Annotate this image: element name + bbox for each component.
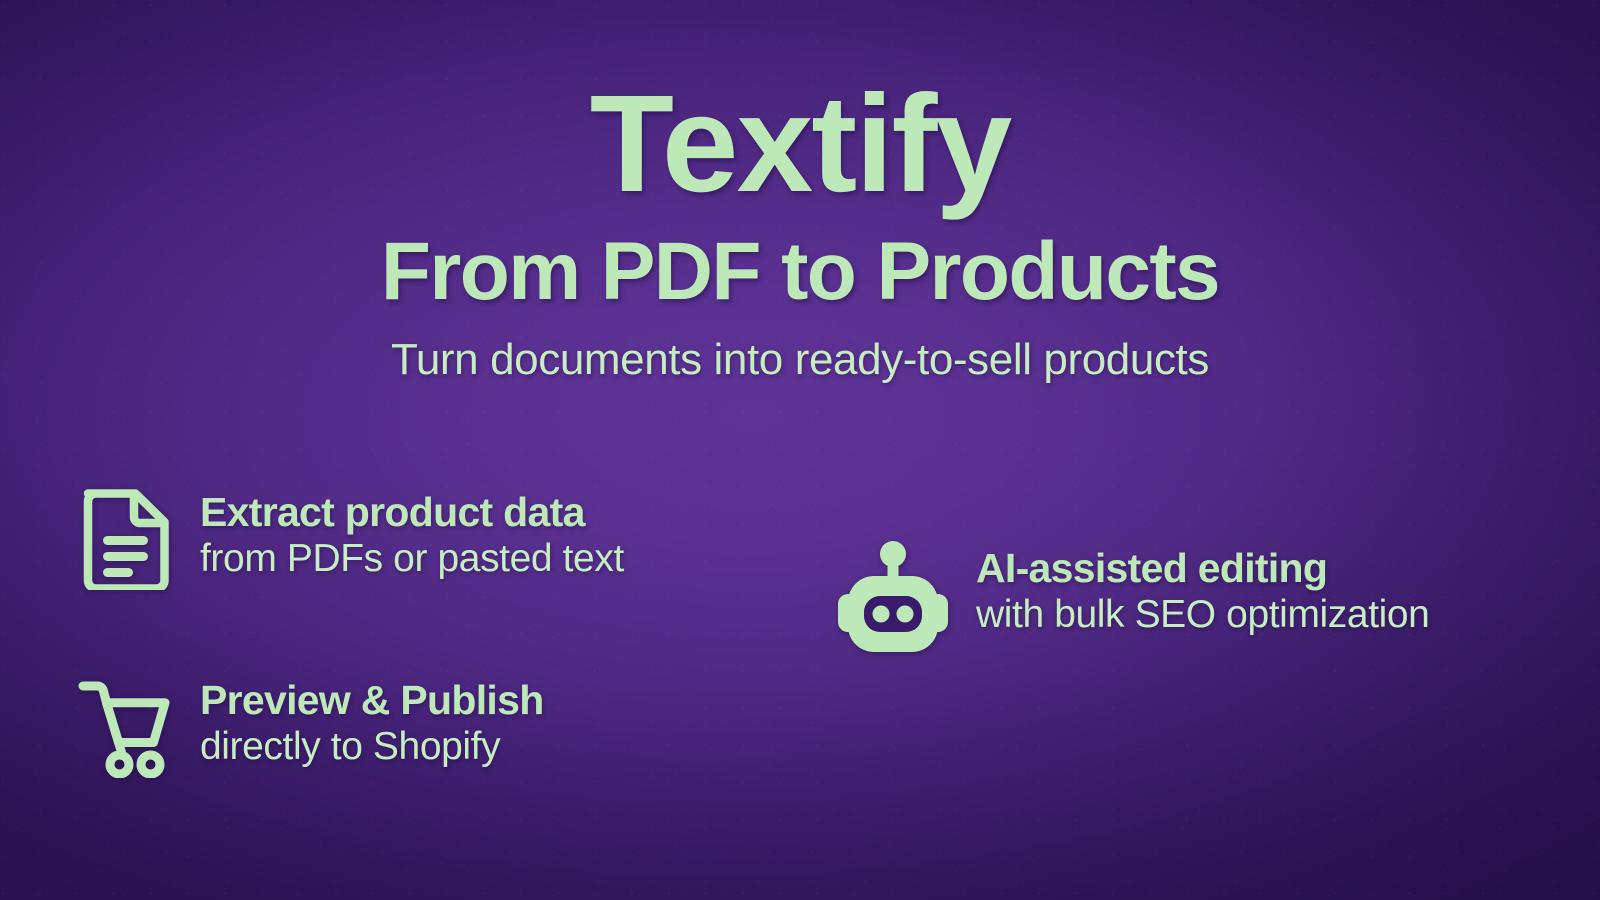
feature-text-group: AI-assisted editing with bulk SEO optimi… bbox=[976, 538, 1429, 639]
shopping-cart-icon bbox=[76, 672, 174, 783]
feature-subtitle: directly to Shopify bbox=[200, 724, 544, 771]
feature-item-ai-assisted-editing: AI-assisted editing with bulk SEO optimi… bbox=[836, 538, 1429, 661]
feature-title: Preview & Publish bbox=[200, 678, 544, 724]
robot-head-icon bbox=[836, 538, 950, 661]
feature-subtitle: with bulk SEO optimization bbox=[976, 592, 1429, 639]
feature-title: Extract product data bbox=[200, 490, 624, 536]
feature-subtitle: from PDFs or pasted text bbox=[200, 536, 624, 583]
feature-item-preview-and-publish: Preview & Publish directly to Shopify bbox=[76, 672, 544, 783]
subtagline: Turn documents into ready-to-sell produc… bbox=[0, 314, 1600, 384]
headline-block: Textify From PDF to Products Turn docume… bbox=[0, 0, 1600, 384]
document-lines-icon bbox=[76, 484, 174, 595]
tagline: From PDF to Products bbox=[0, 215, 1600, 314]
feature-item-extract-product-data: Extract product data from PDFs or pasted… bbox=[76, 484, 624, 595]
feature-text-group: Extract product data from PDFs or pasted… bbox=[200, 484, 624, 583]
app-title: Textify bbox=[0, 0, 1600, 215]
feature-title: AI-assisted editing bbox=[976, 546, 1429, 592]
feature-text-group: Preview & Publish directly to Shopify bbox=[200, 672, 544, 771]
hero-banner: Textify From PDF to Products Turn docume… bbox=[0, 0, 1600, 900]
